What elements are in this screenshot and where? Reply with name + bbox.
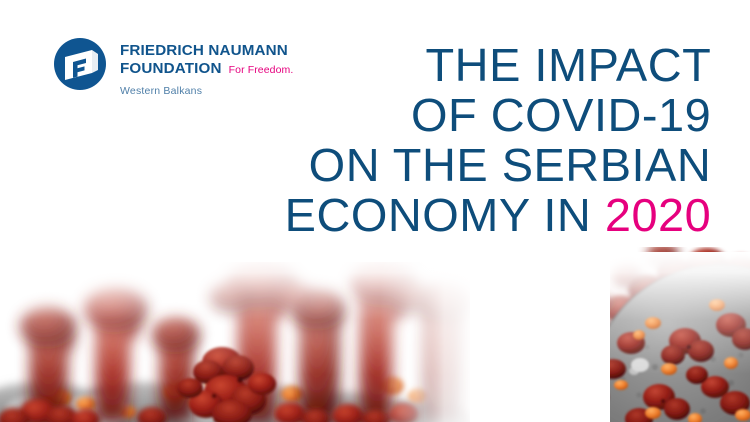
fnf-logo: FRIEDRICH NAUMANN FOUNDATION For Freedom… bbox=[54, 38, 293, 97]
cover-page: FRIEDRICH NAUMANN FOUNDATION For Freedom… bbox=[0, 0, 750, 422]
title-line-3: ON THE SERBIAN bbox=[284, 140, 711, 190]
title-year-accent: 2020 bbox=[605, 189, 711, 241]
virus-imagery-layer bbox=[0, 252, 750, 422]
coronavirus-virion-sphere-icon bbox=[535, 247, 750, 422]
imagery-top-fade bbox=[0, 252, 750, 422]
fnf-logo-text: FRIEDRICH NAUMANN FOUNDATION For Freedom… bbox=[120, 38, 293, 97]
title-line-4: ECONOMY IN 2020 bbox=[284, 190, 711, 240]
coronavirus-spike-proteins-closeup-icon bbox=[0, 262, 470, 422]
wordmark-foundation: FOUNDATION bbox=[120, 60, 222, 78]
wordmark-line-1: FRIEDRICH NAUMANN bbox=[120, 42, 293, 60]
title-line-1: THE IMPACT bbox=[284, 40, 711, 90]
title-line-4-prefix: ECONOMY IN bbox=[284, 189, 604, 241]
fnf-logo-mark-icon bbox=[54, 38, 106, 90]
title-line-2: OF COVID-19 bbox=[284, 90, 711, 140]
logo-region-label: Western Balkans bbox=[120, 85, 293, 97]
imagery-middle-fade bbox=[380, 252, 610, 422]
wordmark-friedrich-naumann: FRIEDRICH NAUMANN bbox=[120, 42, 288, 60]
page-title: THE IMPACT OF COVID-19 ON THE SERBIAN EC… bbox=[293, 40, 711, 240]
wordmark-line-2: FOUNDATION For Freedom. bbox=[120, 60, 293, 78]
